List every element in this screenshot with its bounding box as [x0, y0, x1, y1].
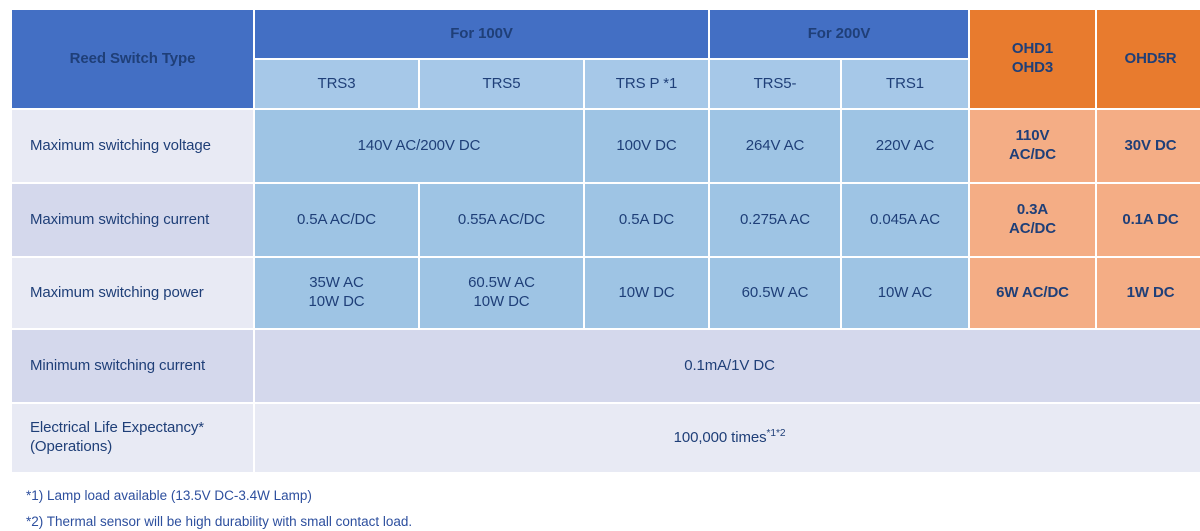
header-col-trs-p: TRS P *1 — [585, 60, 708, 108]
cell-voltage-ohd5r: 30V DC — [1097, 110, 1200, 182]
header-reed-switch-type: Reed Switch Type — [12, 10, 253, 108]
table-row: Electrical Life Expectancy*(Operations) … — [12, 404, 1200, 472]
cell-power-trs-p: 10W DC — [585, 258, 708, 328]
table-row: Minimum switching current 0.1mA/1V DC — [12, 330, 1200, 402]
table-header-row-groups: Reed Switch Type For 100V For 200V OHD1 … — [12, 10, 1200, 58]
table-row: Maximum switching current 0.5A AC/DC 0.5… — [12, 184, 1200, 256]
row-label-maximum-switching-voltage: Maximum switching voltage — [12, 110, 253, 182]
footnote-2: *2) Thermal sensor will be high durabili… — [26, 512, 1190, 531]
header-col-trs5: TRS5 — [420, 60, 583, 108]
row-label-maximum-switching-power: Maximum switching power — [12, 258, 253, 328]
cell-power-trs1: 10W AC — [842, 258, 968, 328]
row-label-maximum-switching-current: Maximum switching current — [12, 184, 253, 256]
table-row: Maximum switching power 35W AC10W DC 60.… — [12, 258, 1200, 328]
cell-electrical-life-expectancy-all: 100,000 times*1*2 — [255, 404, 1200, 472]
cell-current-trs3: 0.5A AC/DC — [255, 184, 418, 256]
cell-voltage-trs5-dash: 264V AC — [710, 110, 840, 182]
cell-current-trs1: 0.045A AC — [842, 184, 968, 256]
life-expectancy-value: 100,000 times — [674, 429, 767, 446]
cell-power-trs5-dash: 60.5W AC — [710, 258, 840, 328]
reed-switch-spec-table: Reed Switch Type For 100V For 200V OHD1 … — [10, 8, 1200, 474]
cell-power-trs3: 35W AC10W DC — [255, 258, 418, 328]
row-label-electrical-life-expectancy: Electrical Life Expectancy*(Operations) — [12, 404, 253, 472]
header-group-for-200v: For 200V — [710, 10, 968, 58]
cell-power-trs5: 60.5W AC10W DC — [420, 258, 583, 328]
header-col-trs5-dash: TRS5- — [710, 60, 840, 108]
cell-voltage-ohd1-ohd3: 110VAC/DC — [970, 110, 1095, 182]
footnotes: *1) Lamp load available (13.5V DC-3.4W L… — [10, 486, 1190, 531]
cell-voltage-trs3-trs5: 140V AC/200V DC — [255, 110, 583, 182]
cell-power-ohd1-ohd3: 6W AC/DC — [970, 258, 1095, 328]
cell-current-trs-p: 0.5A DC — [585, 184, 708, 256]
spec-table-sheet: Reed Switch Type For 100V For 200V OHD1 … — [0, 0, 1200, 527]
life-expectancy-footnote-marker: *1*2 — [767, 428, 786, 439]
header-ohd5r: OHD5R — [1097, 10, 1200, 108]
cell-power-ohd5r: 1W DC — [1097, 258, 1200, 328]
cell-voltage-trs-p: 100V DC — [585, 110, 708, 182]
cell-current-trs5: 0.55A AC/DC — [420, 184, 583, 256]
footnote-1: *1) Lamp load available (13.5V DC-3.4W L… — [26, 486, 1190, 506]
cell-current-ohd1-ohd3: 0.3AAC/DC — [970, 184, 1095, 256]
header-col-trs1: TRS1 — [842, 60, 968, 108]
header-ohd1-line1: OHD1 — [1012, 40, 1053, 57]
header-group-for-100v: For 100V — [255, 10, 708, 58]
row-label-minimum-switching-current: Minimum switching current — [12, 330, 253, 402]
cell-voltage-trs1: 220V AC — [842, 110, 968, 182]
header-ohd1-ohd3: OHD1 OHD3 — [970, 10, 1095, 108]
header-col-trs3: TRS3 — [255, 60, 418, 108]
cell-minimum-switching-current-all: 0.1mA/1V DC — [255, 330, 1200, 402]
table-row: Maximum switching voltage 140V AC/200V D… — [12, 110, 1200, 182]
cell-current-ohd5r: 0.1A DC — [1097, 184, 1200, 256]
header-ohd1-line2: OHD3 — [1012, 59, 1053, 76]
cell-current-trs5-dash: 0.275A AC — [710, 184, 840, 256]
